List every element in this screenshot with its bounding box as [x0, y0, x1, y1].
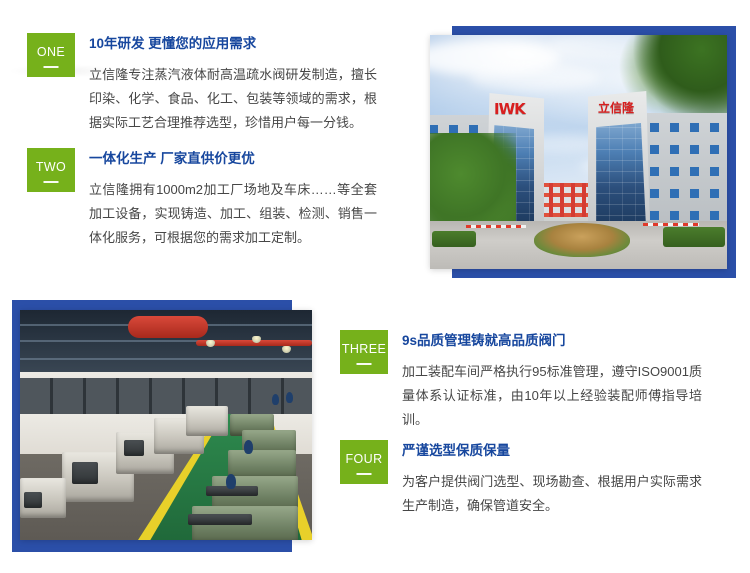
background-building-right	[647, 113, 727, 231]
company-name-sign: 立信隆	[598, 99, 634, 116]
feature-two-body: 立信隆拥有1000m2加工厂场地及车床……等全套加工设备，实现铸造、加工、组装、…	[89, 178, 377, 250]
worker	[226, 474, 236, 489]
advantages-section: ONE 10年研发 更懂您的应用需求 立信隆专注蒸汽液体耐高温疏水阀研发制造，擅…	[0, 0, 750, 573]
feature-block-three: THREE 9s品质管理铸就高品质阀门 加工装配车间严格执行95标准管理，遵守I…	[340, 330, 702, 432]
feature-three-body: 加工装配车间严格执行95标准管理，遵守ISO9001质量体系认证标准，由10年以…	[402, 360, 702, 432]
feature-four-title: 严谨选型保质保量	[402, 440, 702, 458]
worker	[244, 440, 253, 454]
lathe-bed	[188, 514, 252, 525]
feature-block-two: TWO 一体化生产 厂家直供价更优 立信隆拥有1000m2加工厂场地及车床……等…	[27, 148, 377, 250]
feature-two-text: 一体化生产 厂家直供价更优 立信隆拥有1000m2加工厂场地及车床……等全套加工…	[89, 148, 377, 250]
factory-photo-frame	[12, 300, 312, 552]
building-photo-frame: IWK 立信隆	[430, 26, 736, 278]
feature-block-one: ONE 10年研发 更懂您的应用需求 立信隆专注蒸汽液体耐高温疏水阀研发制造，擅…	[27, 33, 377, 135]
machine-panel	[72, 462, 98, 484]
worker	[272, 394, 279, 405]
building-logo-sign: IWK	[494, 100, 525, 118]
feature-three-text: 9s品质管理铸就高品质阀门 加工装配车间严格执行95标准管理，遵守ISO9001…	[402, 330, 702, 432]
badge-one-label: ONE	[37, 46, 65, 59]
machine-panel	[24, 492, 42, 508]
window-strip	[20, 378, 312, 416]
hedge	[663, 227, 725, 247]
factory-photo	[20, 310, 312, 540]
gate-barrier	[643, 223, 699, 226]
badge-one: ONE	[27, 33, 75, 77]
badge-underline-icon	[44, 66, 59, 68]
overhead-duct	[128, 316, 208, 338]
factory-interior	[20, 310, 312, 540]
cnc-machine	[186, 406, 228, 436]
badge-underline-icon	[357, 363, 372, 365]
badge-four-label: FOUR	[345, 453, 382, 466]
badge-two-label: TWO	[36, 161, 66, 174]
tower-right: 立信隆	[588, 91, 650, 233]
badge-three: THREE	[340, 330, 388, 374]
feature-one-title: 10年研发 更懂您的应用需求	[89, 33, 377, 51]
gate-barrier	[466, 225, 526, 228]
badge-underline-icon	[44, 181, 59, 183]
badge-four: FOUR	[340, 440, 388, 484]
feature-two-title: 一体化生产 厂家直供价更优	[89, 148, 377, 166]
feature-one-body: 立信隆专注蒸汽液体耐高温疏水阀研发制造，擅长印染、化学、食品、化工、包装等领域的…	[89, 63, 377, 135]
badge-two: TWO	[27, 148, 75, 192]
badge-underline-icon	[357, 473, 372, 475]
feature-block-four: FOUR 严谨选型保质保量 为客户提供阀门选型、现场勘查、根据用户实际需求生产制…	[340, 440, 702, 518]
tower-right-glass	[596, 123, 646, 227]
building-photo: IWK 立信隆	[430, 35, 727, 269]
cloud	[470, 65, 600, 91]
feature-three-title: 9s品质管理铸就高品质阀门	[402, 330, 702, 348]
feature-four-text: 严谨选型保质保量 为客户提供阀门选型、现场勘查、根据用户实际需求生产制造，确保管…	[402, 440, 702, 518]
feature-one-text: 10年研发 更懂您的应用需求 立信隆专注蒸汽液体耐高温疏水阀研发制造，擅长印染、…	[89, 33, 377, 135]
machine-panel	[124, 440, 144, 456]
hedge	[432, 231, 476, 247]
badge-three-label: THREE	[342, 343, 386, 356]
rock-garden-island	[534, 223, 630, 257]
worker	[286, 392, 293, 403]
feature-four-body: 为客户提供阀门选型、现场勘查、根据用户实际需求生产制造，确保管道安全。	[402, 470, 702, 518]
